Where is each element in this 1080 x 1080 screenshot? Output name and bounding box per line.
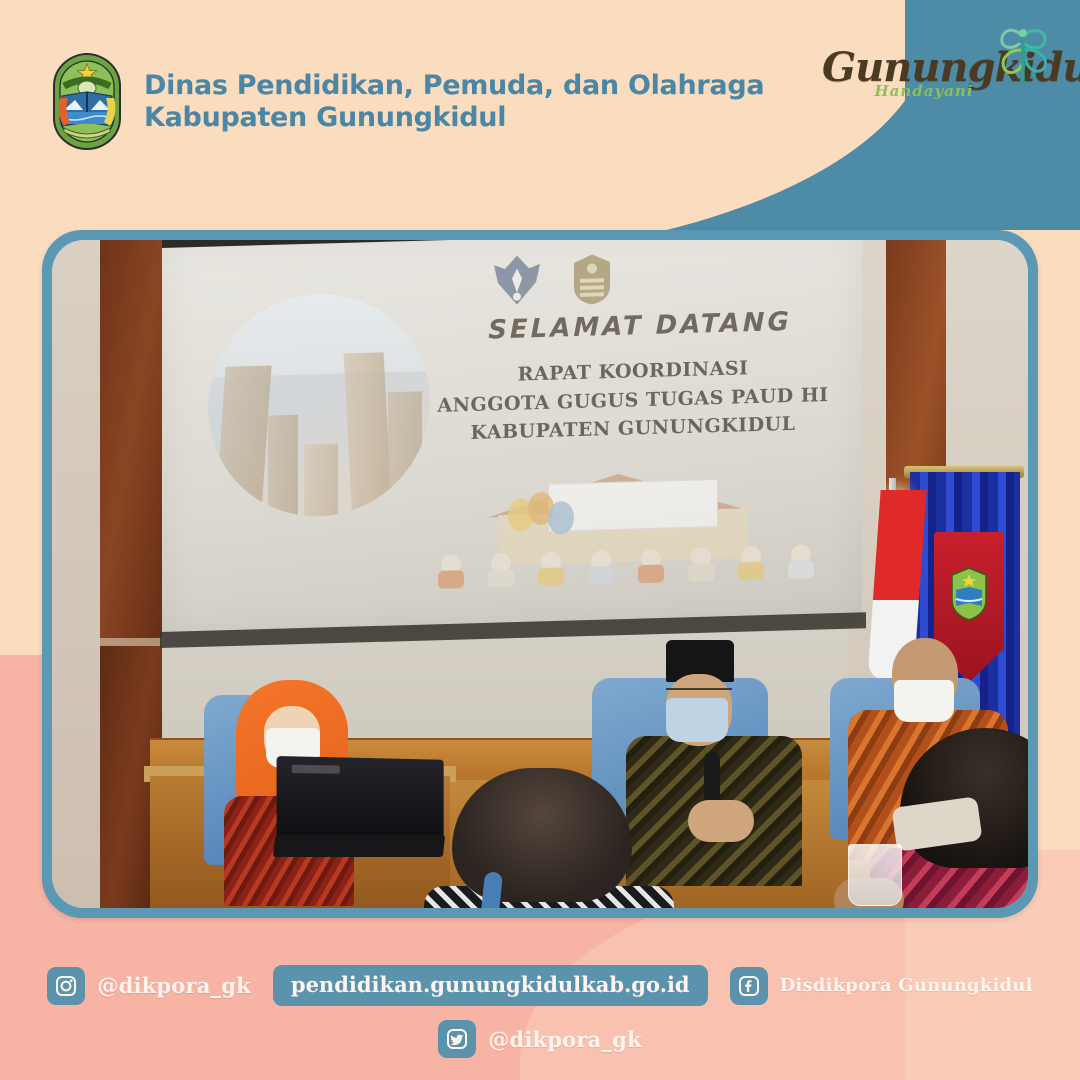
slide-tower [304, 444, 338, 520]
gunungkidul-crest-logo-icon [570, 252, 614, 307]
instagram-handle[interactable]: @dikpora_gk [97, 973, 251, 998]
instagram-link[interactable]: @dikpora_gk [47, 967, 251, 1005]
facebook-page-name[interactable]: Disdikpora Gunungkidul [780, 975, 1033, 996]
facebook-link[interactable]: Disdikpora Gunungkidul [730, 967, 1033, 1005]
illustration-child [736, 546, 766, 581]
wood-seam [100, 638, 162, 646]
illustration-child [486, 553, 516, 588]
laptop-screen [277, 756, 444, 840]
pennant-emblem-icon [948, 566, 990, 622]
illustration-child [636, 548, 666, 583]
face-mask [894, 680, 954, 722]
photo-card: SELAMAT DATANG RAPAT KOORDINASI ANGGOTA … [42, 230, 1038, 918]
slide-sky [208, 291, 430, 377]
footer: @dikpora_gk pendidikan.gunungkidulkab.go… [0, 965, 1080, 1058]
slide-tower [388, 391, 422, 519]
illustration-child [586, 550, 616, 585]
illustration-child [536, 551, 566, 586]
slide-tower [268, 415, 298, 520]
slide-photo-circle [208, 291, 430, 519]
header: Dinas Pendidikan, Pemuda, dan Olahraga K… [50, 52, 764, 152]
illustration-child [686, 547, 716, 582]
slide-illustration [418, 463, 848, 595]
dragonfly-icon [986, 24, 1056, 86]
slide-logos [478, 249, 658, 316]
facebook-icon[interactable] [730, 967, 768, 1005]
footer-row-primary: @dikpora_gk pendidikan.gunungkidulkab.go… [0, 965, 1080, 1006]
person-foreground-left [434, 768, 654, 908]
slide-subtitle: RAPAT KOORDINASI ANGGOTA GUGUS TUGAS PAU… [418, 351, 848, 449]
laptop-base [273, 835, 445, 857]
meeting-photo: SELAMAT DATANG RAPAT KOORDINASI ANGGOTA … [52, 240, 1028, 908]
person-foreground-right [870, 728, 1028, 908]
footer-row-secondary: @dikpora_gk [0, 1020, 1080, 1058]
drinking-cup [848, 844, 902, 906]
twitter-icon[interactable] [438, 1020, 476, 1058]
slide-tower [344, 352, 393, 519]
face-mask [666, 698, 728, 742]
tut-wuri-handayani-logo-icon [488, 252, 546, 310]
header-title-line-2: Kabupaten Gunungkidul [144, 102, 764, 134]
illustration-child [436, 554, 466, 589]
presentation-slide: SELAMAT DATANG RAPAT KOORDINASI ANGGOTA … [182, 240, 852, 630]
slide-tower [214, 365, 271, 519]
header-title-line-1: Dinas Pendidikan, Pemuda, dan Olahraga [144, 70, 764, 102]
gunungkidul-brand-logo: Gunungkidul Handayani [822, 48, 1052, 100]
head-back-view [452, 768, 632, 902]
gunungkidul-regency-crest-icon [50, 52, 124, 152]
header-title: Dinas Pendidikan, Pemuda, dan Olahraga K… [144, 70, 764, 134]
balloon [548, 501, 574, 535]
poster-canvas: Dinas Pendidikan, Pemuda, dan Olahraga K… [0, 0, 1080, 1080]
website-link[interactable]: pendidikan.gunungkidulkab.go.id [273, 965, 708, 1006]
hands [688, 800, 754, 842]
illustration-child [786, 544, 816, 579]
instagram-icon[interactable] [47, 967, 85, 1005]
laptop-logo [292, 765, 340, 774]
twitter-handle[interactable]: @dikpora_gk [488, 1027, 642, 1052]
person-speaker-peci [630, 640, 800, 875]
twitter-link[interactable]: @dikpora_gk [438, 1020, 642, 1058]
